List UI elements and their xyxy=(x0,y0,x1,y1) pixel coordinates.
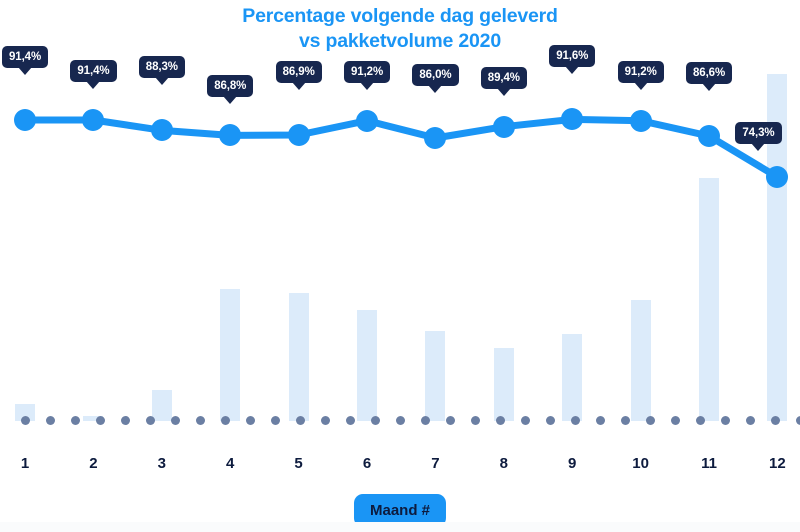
data-label-month-6: 91,2% xyxy=(344,61,390,83)
x-tick-6: 6 xyxy=(347,455,387,472)
x-tick-1: 1 xyxy=(5,455,45,472)
data-label-month-7: 86,0% xyxy=(412,64,458,86)
line-series-layer xyxy=(0,0,800,440)
line-marker-month-10[interactable] xyxy=(630,110,652,132)
x-tick-10: 10 xyxy=(621,455,661,472)
chart-container: Percentage volgende dag geleverd vs pakk… xyxy=(0,0,800,532)
x-tick-5: 5 xyxy=(279,455,319,472)
bottom-band xyxy=(0,522,800,532)
data-label-month-8: 89,4% xyxy=(481,67,527,89)
x-tick-4: 4 xyxy=(210,455,250,472)
data-label-month-10: 91,2% xyxy=(618,61,664,83)
x-tick-9: 9 xyxy=(552,455,592,472)
data-label-month-12: 74,3% xyxy=(735,122,781,144)
x-tick-7: 7 xyxy=(415,455,455,472)
data-label-month-9: 91,6% xyxy=(549,45,595,67)
line-marker-month-11[interactable] xyxy=(698,125,720,147)
x-tick-11: 11 xyxy=(689,455,729,472)
line-marker-month-1[interactable] xyxy=(14,109,36,131)
x-tick-8: 8 xyxy=(484,455,524,472)
data-label-month-1: 91,4% xyxy=(2,46,48,68)
line-marker-month-5[interactable] xyxy=(288,124,310,146)
data-label-month-3: 88,3% xyxy=(139,56,185,78)
line-marker-month-6[interactable] xyxy=(356,110,378,132)
data-label-month-5: 86,9% xyxy=(276,61,322,83)
data-label-month-4: 86,8% xyxy=(207,75,253,97)
line-marker-month-8[interactable] xyxy=(493,116,515,138)
data-label-month-11: 86,6% xyxy=(686,62,732,84)
x-tick-2: 2 xyxy=(73,455,113,472)
x-tick-3: 3 xyxy=(142,455,182,472)
plot-area: 91,4%91,4%88,3%86,8%86,9%91,2%86,0%89,4%… xyxy=(0,0,800,440)
x-tick-12: 12 xyxy=(757,455,797,472)
line-path xyxy=(25,119,777,177)
data-label-month-2: 91,4% xyxy=(70,60,116,82)
line-marker-month-3[interactable] xyxy=(151,119,173,141)
